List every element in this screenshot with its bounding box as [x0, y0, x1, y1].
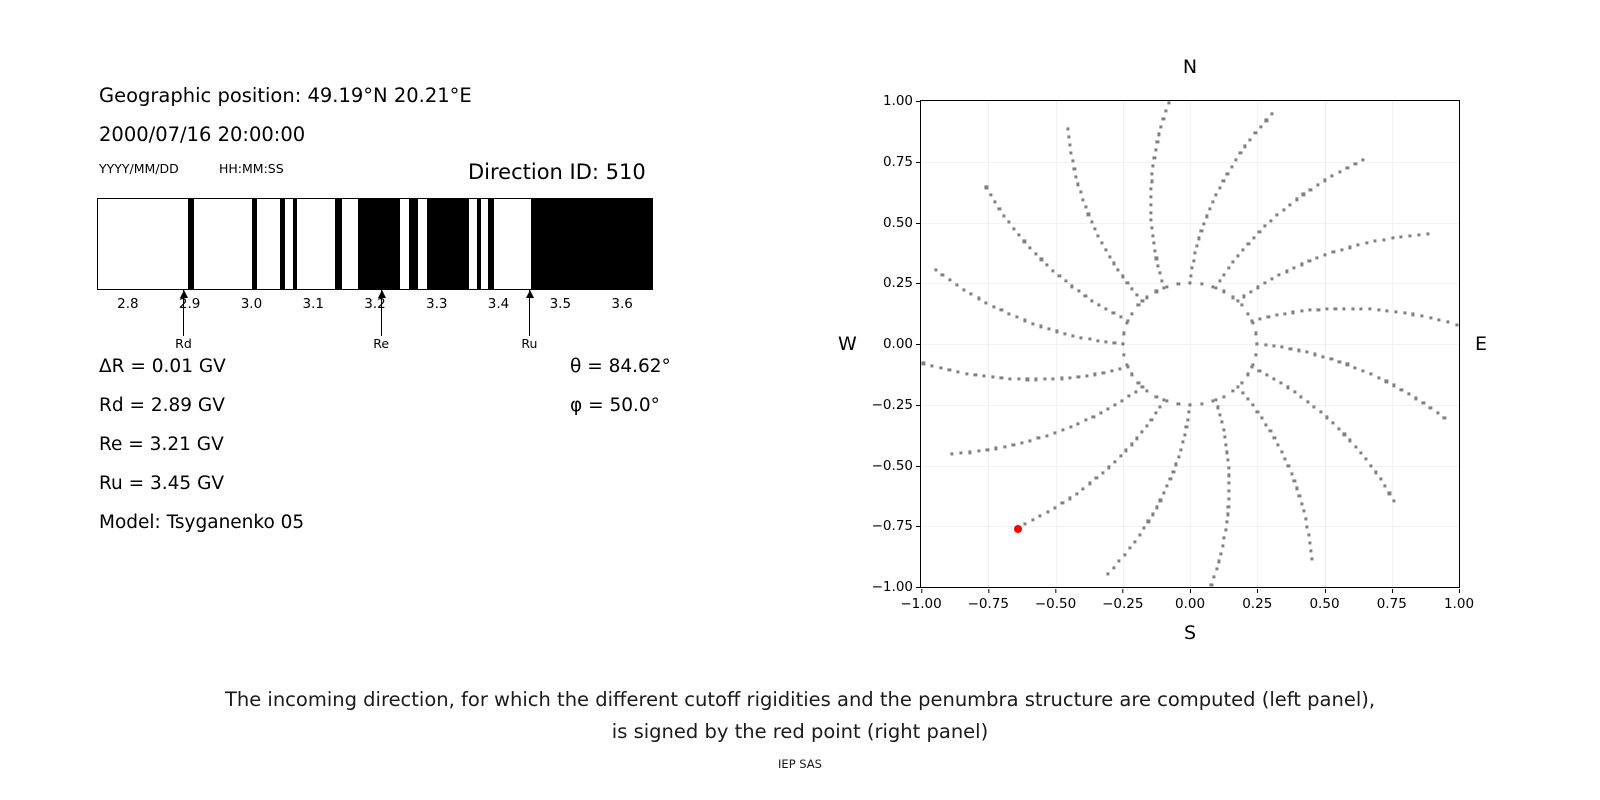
direction-point [1228, 489, 1231, 492]
cutoff-marker-ru [529, 290, 530, 336]
direction-point [1237, 254, 1240, 257]
direction-point [1455, 323, 1458, 326]
direction-point [1117, 268, 1120, 271]
penumbra-chart [97, 198, 653, 290]
direction-point [1227, 474, 1230, 477]
direction-point [1403, 311, 1406, 314]
direction-point [1300, 502, 1303, 505]
direction-point [1055, 330, 1058, 333]
direction-point [1272, 377, 1275, 380]
direction-point [1346, 166, 1349, 169]
direction-point [1174, 463, 1177, 466]
direction-point [1417, 233, 1420, 236]
direction-point [1105, 308, 1108, 311]
direction-point [1337, 427, 1340, 430]
direction-point [1276, 213, 1279, 216]
direction-point [1200, 283, 1203, 286]
direction-point [1106, 572, 1109, 575]
direction-point [1258, 230, 1261, 233]
direction-point [1053, 431, 1056, 434]
direction-point [1251, 404, 1254, 407]
direction-point [1360, 307, 1363, 310]
direction-point [1145, 296, 1148, 299]
direction-point [1252, 236, 1255, 239]
direction-point [1200, 229, 1203, 232]
direction-point [1254, 132, 1257, 135]
direction-point [930, 364, 933, 367]
direction-point [1377, 376, 1380, 379]
direction-point [1240, 303, 1243, 306]
direction-point [1137, 303, 1140, 306]
direction-point [1092, 415, 1095, 418]
direction-point [1223, 536, 1226, 539]
direction-point [1343, 433, 1346, 436]
direction-point [1105, 340, 1108, 343]
direction-point [1313, 405, 1316, 408]
direction-point [1362, 369, 1365, 372]
direction-point [1077, 290, 1080, 293]
direction-point [1113, 342, 1116, 345]
direction-point [1304, 517, 1307, 520]
direction-point [1158, 133, 1161, 136]
direction-point [1359, 451, 1362, 454]
direction-point [956, 370, 959, 373]
direction-point [1088, 338, 1091, 341]
direction-point [1077, 422, 1080, 425]
gridline-horizontal [921, 526, 1459, 527]
direction-point [1108, 255, 1111, 258]
direction-point [995, 447, 998, 450]
direction-point [1263, 282, 1266, 285]
direction-point [1271, 113, 1274, 116]
direction-point [1286, 386, 1289, 389]
direction-point [1351, 307, 1354, 310]
penumbra-forbidden-band [488, 199, 494, 289]
direction-point [1122, 332, 1125, 335]
direction-point [1379, 478, 1382, 481]
direction-point [1243, 295, 1246, 298]
direction-point [1037, 437, 1040, 440]
direction-point [1223, 436, 1226, 439]
direction-point [1222, 290, 1225, 293]
direction-point [1285, 270, 1288, 273]
direction-point [1227, 497, 1230, 500]
direction-point [1147, 520, 1150, 523]
direction-point [1264, 225, 1267, 228]
direction-point [1121, 342, 1124, 345]
direction-point [1255, 332, 1258, 335]
direction-point [1094, 373, 1097, 376]
direction-point [1154, 412, 1157, 415]
direction-point [1012, 443, 1015, 446]
direction-point [965, 372, 968, 375]
direction-point [1119, 315, 1122, 318]
direction-point [1219, 552, 1222, 555]
direction-point [1225, 521, 1228, 524]
direction-point [1034, 252, 1037, 255]
highlighted-direction-point [1014, 525, 1022, 533]
direction-point [1155, 506, 1158, 509]
direction-point [1121, 399, 1124, 402]
direction-point [1039, 325, 1042, 328]
direction-scatter-plot: −1.00−0.75−0.50−0.250.000.250.500.751.00… [920, 100, 1460, 588]
direction-point [1046, 510, 1049, 513]
gridline-horizontal [921, 162, 1459, 163]
direction-point [1159, 405, 1162, 408]
direction-point [1160, 125, 1163, 128]
direction-point [1187, 411, 1190, 414]
direction-point [1279, 382, 1282, 385]
direction-point [1259, 125, 1262, 128]
direction-point [1195, 244, 1198, 247]
direction-point [1218, 280, 1221, 283]
direction-point [962, 288, 965, 291]
direction-point [1165, 399, 1168, 402]
direction-point [1183, 433, 1186, 436]
direction-point [1007, 221, 1010, 224]
direction-point [1400, 235, 1403, 238]
direction-point [1325, 416, 1328, 419]
direction-point [1163, 286, 1166, 289]
penumbra-forbidden-band [358, 199, 400, 289]
direction-point [1362, 158, 1365, 161]
x-axis-tick-label: 0.25 [1242, 596, 1272, 612]
direction-point [1302, 510, 1305, 513]
direction-point [1162, 492, 1165, 495]
direction-point [1308, 259, 1311, 262]
direction-point [968, 451, 971, 454]
direction-point [1143, 527, 1146, 530]
direction-point [1093, 227, 1096, 230]
penumbra-forbidden-band [335, 199, 342, 289]
direction-point [1145, 389, 1148, 392]
direction-point [1322, 355, 1325, 358]
direction-point [1112, 312, 1115, 315]
direction-point [1218, 413, 1221, 416]
direction-point [1100, 242, 1103, 245]
direction-point [1075, 492, 1078, 495]
direction-point [1122, 353, 1125, 356]
parameter-row: Model: Tsyganenko 05 [99, 512, 304, 533]
gridline-horizontal [921, 344, 1459, 345]
direction-point [1155, 395, 1158, 398]
direction-point [1309, 549, 1312, 552]
direction-point [1151, 172, 1154, 175]
direction-point [1368, 308, 1371, 311]
penumbra-axis: 2.83.03.13.33.43.53.62.93.2RdReRu [97, 290, 653, 352]
direction-point [1230, 165, 1233, 168]
direction-point [1310, 557, 1313, 560]
direction-point [1228, 482, 1231, 485]
parameter-row: Re = 3.21 GV [99, 434, 224, 455]
penumbra-forbidden-band [293, 199, 297, 289]
cutoff-marker-label-rd: Rd [175, 336, 192, 351]
direction-point [1077, 375, 1080, 378]
direction-point [1020, 441, 1023, 444]
cutoff-marker-rd [183, 290, 184, 336]
direction-point [1149, 188, 1152, 191]
direction-point [1222, 428, 1225, 431]
direction-point [1155, 257, 1158, 260]
direction-point [1152, 242, 1155, 245]
direction-point [922, 362, 925, 365]
direction-point [1149, 195, 1152, 198]
direction-point [1069, 425, 1072, 428]
direction-point [1073, 167, 1076, 170]
direction-point [1166, 485, 1169, 488]
direction-point [1282, 208, 1285, 211]
direction-point [1185, 426, 1188, 429]
direction-point [985, 186, 988, 189]
date-format-hint: YYYY/MM/DD [99, 161, 179, 176]
parameter-row: Rd = 2.89 GV [99, 395, 225, 416]
direction-point [1224, 528, 1227, 531]
direction-point [1210, 583, 1213, 586]
direction-point [941, 273, 944, 276]
direction-point [1081, 198, 1084, 201]
x-axis-tick-label: 1.00 [1444, 596, 1474, 612]
direction-point [1107, 466, 1110, 469]
direction-point [1113, 460, 1116, 463]
direction-point [1232, 389, 1235, 392]
direction-point [1300, 310, 1303, 313]
direction-point [1316, 256, 1319, 259]
direction-point [1134, 390, 1137, 393]
direction-point [1388, 492, 1391, 495]
direction-point [1067, 135, 1070, 138]
caption-line-1: The incoming direction, for which the di… [0, 684, 1600, 716]
direction-point [1150, 418, 1153, 421]
y-axis-tick-label: −0.25 [872, 397, 913, 413]
direction-point [1012, 227, 1015, 230]
direction-point [1392, 499, 1395, 502]
penumbra-forbidden-band [252, 199, 257, 289]
direction-point [1130, 443, 1133, 446]
direction-point [1369, 464, 1372, 467]
direction-point [1149, 203, 1152, 206]
direction-id-label: Direction ID: 510 [468, 160, 646, 184]
direction-point [1101, 471, 1104, 474]
direction-point [1258, 369, 1261, 372]
direction-point [1290, 472, 1293, 475]
direction-point [1063, 332, 1066, 335]
penumbra-forbidden-band [409, 199, 418, 289]
direction-point [1221, 544, 1224, 547]
direction-point [1060, 377, 1063, 380]
direction-point [1340, 248, 1343, 251]
direction-point [1091, 299, 1094, 302]
direction-point [1330, 357, 1333, 360]
datetime-label: 2000/07/16 20:00:00 [99, 123, 305, 146]
direction-point [1251, 319, 1254, 322]
compass-label-east: E [1475, 333, 1487, 355]
x-axis-tick-label: 0.00 [1175, 596, 1205, 612]
direction-point [1338, 170, 1341, 173]
direction-point [1097, 235, 1100, 238]
direction-point [1133, 540, 1136, 543]
direction-point [1112, 262, 1115, 265]
direction-point [1302, 193, 1305, 196]
direction-point [934, 268, 937, 271]
direction-point [1308, 541, 1311, 544]
direction-point [1260, 416, 1263, 419]
direction-point [955, 283, 958, 286]
direction-point [1077, 183, 1080, 186]
direction-point [1149, 211, 1152, 214]
direction-point [1160, 279, 1163, 282]
direction-point [1152, 164, 1155, 167]
direction-point [986, 448, 989, 451]
direction-point [1164, 109, 1167, 112]
direction-point [989, 193, 992, 196]
direction-point [1265, 423, 1268, 426]
direction-point [1226, 451, 1229, 454]
direction-point [998, 207, 1001, 210]
direction-point [1177, 455, 1180, 458]
right-panel: N S W E −1.00−0.75−0.50−0.250.000.250.50… [760, 0, 1600, 660]
direction-point [1415, 397, 1418, 400]
compass-label-north: N [1183, 56, 1197, 78]
direction-point [1153, 156, 1156, 159]
direction-point [1284, 457, 1287, 460]
direction-point [1046, 264, 1049, 267]
direction-point [1227, 458, 1230, 461]
direction-point [1317, 308, 1320, 311]
direction-point [1236, 299, 1239, 302]
direction-point [1280, 450, 1283, 453]
direction-point [1354, 445, 1357, 448]
direction-point [1189, 274, 1192, 277]
direction-point [1293, 479, 1296, 482]
direction-point [1162, 117, 1165, 120]
direction-point [1165, 285, 1168, 288]
direction-point [1256, 286, 1259, 289]
direction-point [1075, 175, 1078, 178]
direction-point [977, 450, 980, 453]
direction-point [1034, 378, 1037, 381]
direction-point [1346, 363, 1349, 366]
direction-point [1374, 471, 1377, 474]
x-axis-tick-label: −0.75 [968, 596, 1009, 612]
direction-point [1054, 506, 1057, 509]
direction-point [1446, 321, 1449, 324]
left-panel: Geographic position: 49.19°N 20.21°E 200… [0, 0, 760, 620]
direction-point [1000, 309, 1003, 312]
direction-point [1354, 366, 1357, 369]
rigidity-tick-label: 3.1 [302, 296, 323, 312]
direction-point [1181, 441, 1184, 444]
direction-point [1023, 319, 1026, 322]
direction-point [1213, 575, 1216, 578]
direction-point [1232, 296, 1235, 299]
direction-point [1364, 458, 1367, 461]
direction-point [1278, 274, 1281, 277]
direction-point [1438, 318, 1441, 321]
direction-point [1412, 313, 1415, 316]
direction-point [1295, 487, 1298, 490]
direction-point [1118, 560, 1121, 563]
direction-point [1265, 119, 1268, 122]
direction-point [1008, 377, 1011, 380]
direction-point [1214, 193, 1217, 196]
direction-point [1436, 411, 1439, 414]
direction-point [1099, 411, 1102, 414]
direction-point [1177, 283, 1180, 286]
direction-point [1061, 501, 1064, 504]
direction-point [1136, 293, 1139, 296]
direction-point [1080, 336, 1083, 339]
direction-point [1222, 395, 1225, 398]
direction-point [1040, 258, 1043, 261]
direction-point [1222, 179, 1225, 182]
compass-label-west: W [838, 333, 857, 355]
penumbra-forbidden-band [427, 199, 469, 289]
direction-point [1051, 377, 1054, 380]
direction-point [1211, 200, 1214, 203]
direction-point [1264, 343, 1267, 346]
direction-point [1126, 319, 1129, 322]
direction-point [1244, 145, 1247, 148]
direction-point [1267, 315, 1270, 318]
direction-point [1357, 244, 1360, 247]
penumbra-forbidden-band [531, 199, 652, 289]
direction-point [1102, 371, 1105, 374]
direction-point [1292, 266, 1295, 269]
x-axis-tick-label: 0.75 [1377, 596, 1407, 612]
direction-point [1191, 267, 1194, 270]
direction-point [1031, 519, 1034, 522]
rigidity-tick-label: 3.0 [241, 296, 262, 312]
direction-point [1259, 317, 1262, 320]
direction-point [1227, 267, 1230, 270]
direction-point [1015, 316, 1018, 319]
direction-point [1000, 376, 1003, 379]
angle-row: θ = 84.62° [570, 356, 671, 377]
direction-point [1023, 523, 1026, 526]
direction-point [1130, 312, 1133, 315]
cutoff-marker-label-re: Re [373, 336, 389, 351]
direction-point [1155, 290, 1158, 293]
direction-point [1256, 410, 1259, 413]
direction-point [1342, 307, 1345, 310]
direction-point [1140, 431, 1143, 434]
direction-point [1270, 277, 1273, 280]
y-axis-tick-label: −1.00 [872, 579, 913, 595]
direction-point [1374, 240, 1377, 243]
direction-point [1029, 439, 1032, 442]
direction-point [1292, 311, 1295, 314]
direction-point [1208, 207, 1211, 210]
direction-point [1198, 237, 1201, 240]
parameter-row: Ru = 3.45 GV [99, 473, 224, 494]
direction-point [1386, 309, 1389, 312]
direction-point [1098, 303, 1101, 306]
direction-point [982, 375, 985, 378]
gridline-horizontal [921, 466, 1459, 467]
direction-point [948, 368, 951, 371]
direction-point [1215, 568, 1218, 571]
direction-point [1151, 234, 1154, 237]
footer-credit: IEP SAS [0, 757, 1600, 771]
direction-point [1251, 366, 1254, 369]
direction-point [992, 305, 995, 308]
direction-point [1270, 219, 1273, 222]
direction-point [1288, 203, 1291, 206]
direction-point [1119, 455, 1122, 458]
direction-point [1281, 346, 1284, 349]
direction-point [1045, 434, 1048, 437]
direction-point [1227, 505, 1230, 508]
